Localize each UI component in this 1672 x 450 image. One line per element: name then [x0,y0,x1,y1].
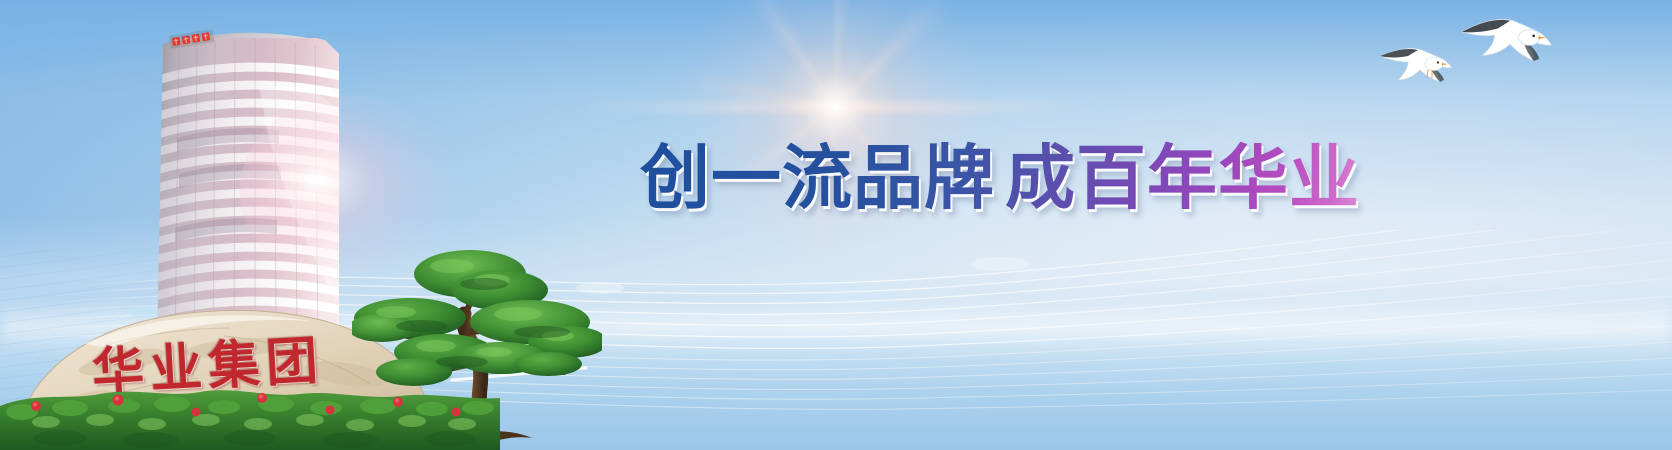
slogan-part-2: 成百年华业 [1005,143,1360,213]
seagulls-group [1370,4,1670,124]
seagull-icon [1380,48,1452,82]
slogan-part-1: 创一流品牌 [640,143,995,213]
seagull-icon [1462,19,1552,61]
hero-banner: 华业集团 [0,0,1672,450]
office-tower [139,18,349,348]
slogan-headline: 创一流品牌 成百年华业 [640,133,1360,223]
green-hedge [0,382,500,450]
